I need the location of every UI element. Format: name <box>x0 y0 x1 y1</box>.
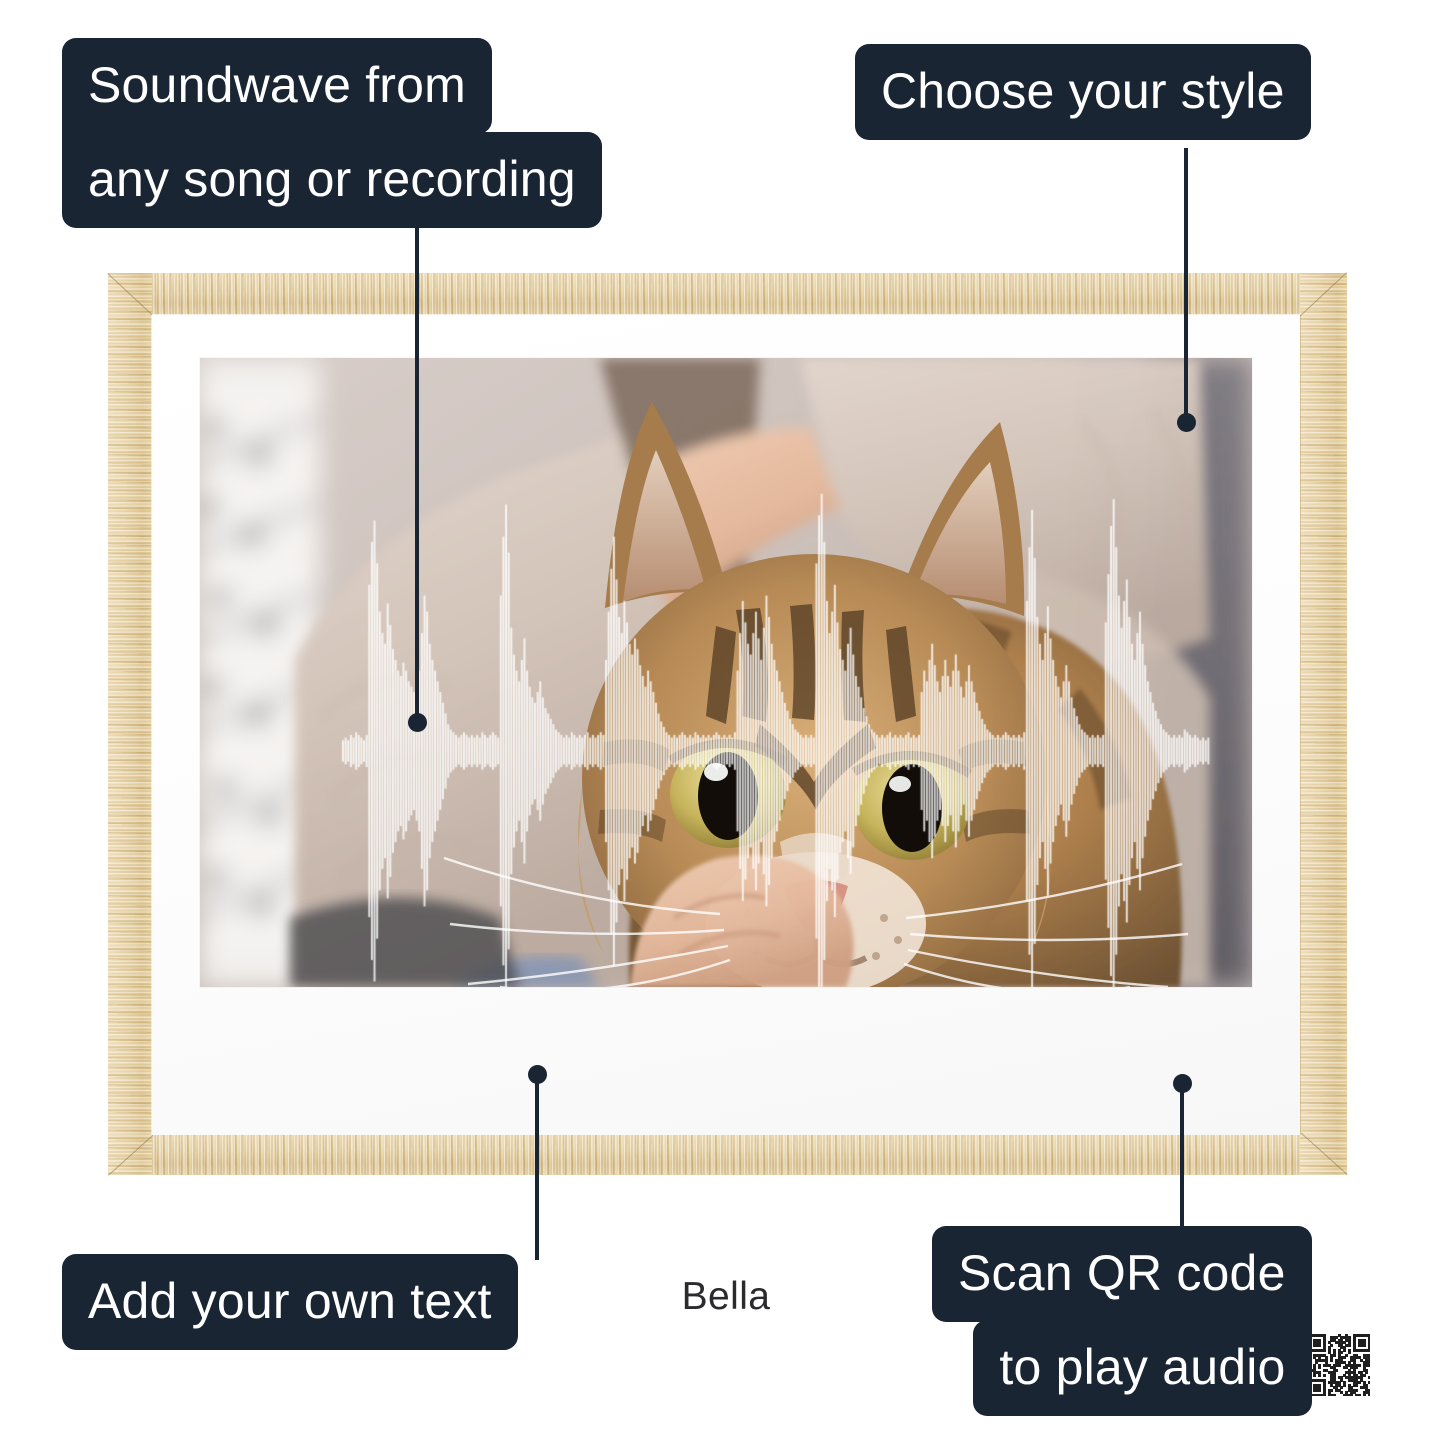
callout-qr: Scan QR code to play audio <box>932 1226 1312 1416</box>
callout-add-text: Add your own text <box>62 1256 518 1350</box>
leader-dot-add-text <box>528 1065 547 1084</box>
framed-print: Bella <box>108 273 1347 1175</box>
frame-rail-bottom <box>108 1135 1347 1175</box>
leader-line-style <box>1184 148 1188 426</box>
callout-style-line1: Choose your style <box>855 44 1311 140</box>
leader-dot-style <box>1177 413 1196 432</box>
frame-rail-top <box>108 273 1347 315</box>
callout-qr-line2: to play audio <box>973 1320 1311 1416</box>
product-infographic: Bella Soundwave from any song or recordi… <box>0 0 1450 1450</box>
callout-add-text-line1: Add your own text <box>62 1254 518 1350</box>
leader-dot-qr <box>1173 1074 1192 1093</box>
frame-rail-left <box>108 273 152 1175</box>
callout-soundwave-line1: Soundwave from <box>62 38 492 134</box>
leader-line-soundwave <box>415 215 419 725</box>
frame-rail-right <box>1300 273 1347 1175</box>
callout-soundwave: Soundwave from any song or recording <box>62 38 602 228</box>
frame-mat: Bella <box>152 315 1300 1135</box>
cat-photo <box>200 358 1252 987</box>
qr-code[interactable] <box>1308 1334 1370 1396</box>
callout-style: Choose your style <box>855 46 1311 140</box>
leader-dot-soundwave <box>408 713 427 732</box>
callout-qr-line1: Scan QR code <box>932 1226 1312 1322</box>
callout-soundwave-line2: any song or recording <box>62 132 602 228</box>
leader-line-add-text <box>535 1074 539 1260</box>
leader-line-qr <box>1180 1083 1184 1229</box>
